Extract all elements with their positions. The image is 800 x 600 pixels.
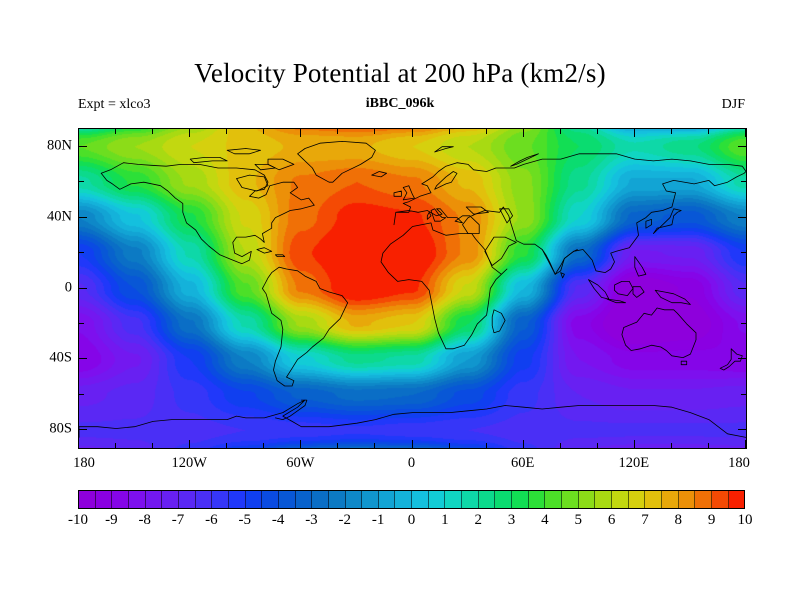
y-axis-tick-label: 80S [10, 421, 72, 438]
colorbar-tick-label: 3 [508, 512, 516, 529]
axis-tick-mark [738, 429, 746, 430]
colorbar-tick-label: -5 [239, 512, 252, 529]
axis-tick-mark [634, 440, 635, 448]
axis-tick-mark [745, 129, 746, 137]
colorbar-tick-label: -7 [172, 512, 185, 529]
x-axis-tick-label: 180 [73, 455, 95, 472]
x-axis-tick-label: 0 [408, 455, 415, 472]
colorbar-cell [279, 491, 296, 508]
axis-tick-mark [523, 440, 524, 448]
axis-tick-mark [79, 358, 87, 359]
colorbar-cell [146, 491, 163, 508]
axis-tick-mark [634, 129, 635, 137]
colorbar-cell [329, 491, 346, 508]
axis-tick-mark [337, 129, 338, 134]
axis-tick-mark [486, 443, 487, 448]
colorbar-cell [312, 491, 329, 508]
axis-tick-mark [374, 129, 375, 134]
axis-tick-mark [300, 440, 301, 448]
x-axis-tick-label: 120W [171, 455, 206, 472]
x-axis-tick-label: 60E [511, 455, 534, 472]
colorbar-cell [246, 491, 263, 508]
colorbar-cell [645, 491, 662, 508]
colorbar-cell [362, 491, 379, 508]
axis-tick-mark [708, 129, 709, 134]
axis-tick-mark [738, 146, 746, 147]
colorbar-cell [729, 491, 745, 508]
colorbar-cell [712, 491, 729, 508]
axis-tick-mark [741, 181, 746, 182]
figure-canvas: Velocity Potential at 200 hPa (km2/s) iB… [0, 0, 800, 600]
colorbar-tick-label: -9 [105, 512, 118, 529]
colorbar-cell [662, 491, 679, 508]
colorbar-tick-label: 7 [641, 512, 649, 529]
colorbar-tick-label: 2 [474, 512, 482, 529]
axis-tick-mark [741, 323, 746, 324]
colorbar-cell [395, 491, 412, 508]
x-axis-tick-label: 180 [728, 455, 750, 472]
colorbar-cell [96, 491, 113, 508]
axis-tick-mark [560, 443, 561, 448]
axis-tick-mark [226, 443, 227, 448]
axis-tick-mark [78, 440, 79, 448]
colorbar-tick-label: -4 [272, 512, 285, 529]
axis-tick-mark [738, 288, 746, 289]
colorbar-cell [612, 491, 629, 508]
axis-tick-mark [708, 443, 709, 448]
colorbar-cell [545, 491, 562, 508]
axis-tick-mark [597, 129, 598, 134]
x-axis-tick-label: 120E [619, 455, 650, 472]
colorbar-cell [495, 491, 512, 508]
colorbar-tick-label: -8 [138, 512, 151, 529]
colorbar-cell [512, 491, 529, 508]
colorbar-cell [445, 491, 462, 508]
colorbar-cell [595, 491, 612, 508]
axis-tick-mark [79, 217, 87, 218]
colorbar-cell [429, 491, 446, 508]
experiment-label: Expt = xlco3 [78, 97, 150, 113]
axis-tick-mark [79, 394, 84, 395]
axis-tick-mark [741, 252, 746, 253]
colorbar-cell [296, 491, 313, 508]
colorbar-tick-label: -2 [339, 512, 352, 529]
y-axis-tick-label: 40S [10, 350, 72, 367]
colorbar-cell [479, 491, 496, 508]
axis-tick-mark [597, 443, 598, 448]
axis-tick-mark [263, 129, 264, 134]
colorbar-cell [695, 491, 712, 508]
axis-tick-mark [671, 129, 672, 134]
colorbar-tick-labels: -10-9-8-7-6-5-4-3-2-1012345678910 [78, 512, 745, 534]
colorbar-tick-label: 4 [541, 512, 549, 529]
colorbar-cell [562, 491, 579, 508]
colorbar-tick-label: 5 [575, 512, 583, 529]
colorbar-tick-label: 1 [441, 512, 449, 529]
colorbar-cell [179, 491, 196, 508]
colorbar-cell [229, 491, 246, 508]
contour-fill-raster [79, 129, 746, 448]
x-axis-labels: 180120W60W060E120E180 [78, 455, 747, 477]
colorbar-cell [529, 491, 546, 508]
axis-tick-mark [449, 443, 450, 448]
axis-tick-mark [745, 440, 746, 448]
velocity-potential-field [79, 129, 746, 448]
colorbar-cell [79, 491, 96, 508]
page-title: Velocity Potential at 200 hPa (km2/s) [0, 58, 800, 89]
colorbar-tick-label: 8 [675, 512, 683, 529]
colorbar-tick-label: -1 [372, 512, 385, 529]
colorbar [78, 490, 745, 509]
y-axis-labels: 80N40N040S80S [0, 128, 72, 448]
axis-tick-mark [523, 129, 524, 137]
axis-tick-mark [300, 129, 301, 137]
season-label: DJF [722, 97, 745, 113]
axis-tick-mark [412, 129, 413, 137]
colorbar-cell [112, 491, 129, 508]
axis-tick-mark [263, 443, 264, 448]
axis-tick-mark [560, 129, 561, 134]
axis-tick-mark [115, 443, 116, 448]
colorbar-cell [579, 491, 596, 508]
axis-tick-mark [738, 358, 746, 359]
colorbar-tick-label: -3 [305, 512, 318, 529]
y-axis-tick-label: 40N [10, 208, 72, 225]
axis-tick-mark [486, 129, 487, 134]
axis-tick-mark [79, 146, 87, 147]
axis-tick-mark [79, 429, 87, 430]
colorbar-cell [162, 491, 179, 508]
axis-tick-mark [738, 217, 746, 218]
colorbar-cell [679, 491, 696, 508]
axis-tick-mark [374, 443, 375, 448]
y-axis-tick-label: 0 [10, 279, 72, 296]
colorbar-tick-label: 0 [408, 512, 416, 529]
colorbar-tick-label: 10 [738, 512, 753, 529]
axis-tick-mark [741, 394, 746, 395]
colorbar-cell [129, 491, 146, 508]
colorbar-cell [346, 491, 363, 508]
colorbar-tick-label: -6 [205, 512, 218, 529]
axis-tick-mark [152, 129, 153, 134]
colorbar-tick-label: -10 [68, 512, 88, 529]
map-plot-area [78, 128, 747, 449]
colorbar-cell [196, 491, 213, 508]
colorbar-cell [379, 491, 396, 508]
axis-tick-mark [79, 181, 84, 182]
axis-tick-mark [152, 443, 153, 448]
axis-tick-mark [226, 129, 227, 134]
axis-tick-mark [189, 129, 190, 137]
axis-tick-mark [671, 443, 672, 448]
colorbar-cell [462, 491, 479, 508]
axis-tick-mark [412, 440, 413, 448]
x-axis-tick-label: 60W [286, 455, 314, 472]
colorbar-cell [412, 491, 429, 508]
colorbar-cell [629, 491, 646, 508]
colorbar-tick-label: 9 [708, 512, 716, 529]
colorbar-cell [262, 491, 279, 508]
axis-tick-mark [79, 252, 84, 253]
axis-tick-mark [189, 440, 190, 448]
axis-tick-mark [449, 129, 450, 134]
axis-tick-mark [337, 443, 338, 448]
axis-tick-mark [79, 323, 84, 324]
y-axis-tick-label: 80N [10, 137, 72, 154]
colorbar-swatches [78, 490, 745, 509]
axis-tick-mark [79, 288, 87, 289]
colorbar-tick-label: 6 [608, 512, 616, 529]
axis-tick-mark [115, 129, 116, 134]
colorbar-cell [212, 491, 229, 508]
axis-tick-mark [78, 129, 79, 137]
